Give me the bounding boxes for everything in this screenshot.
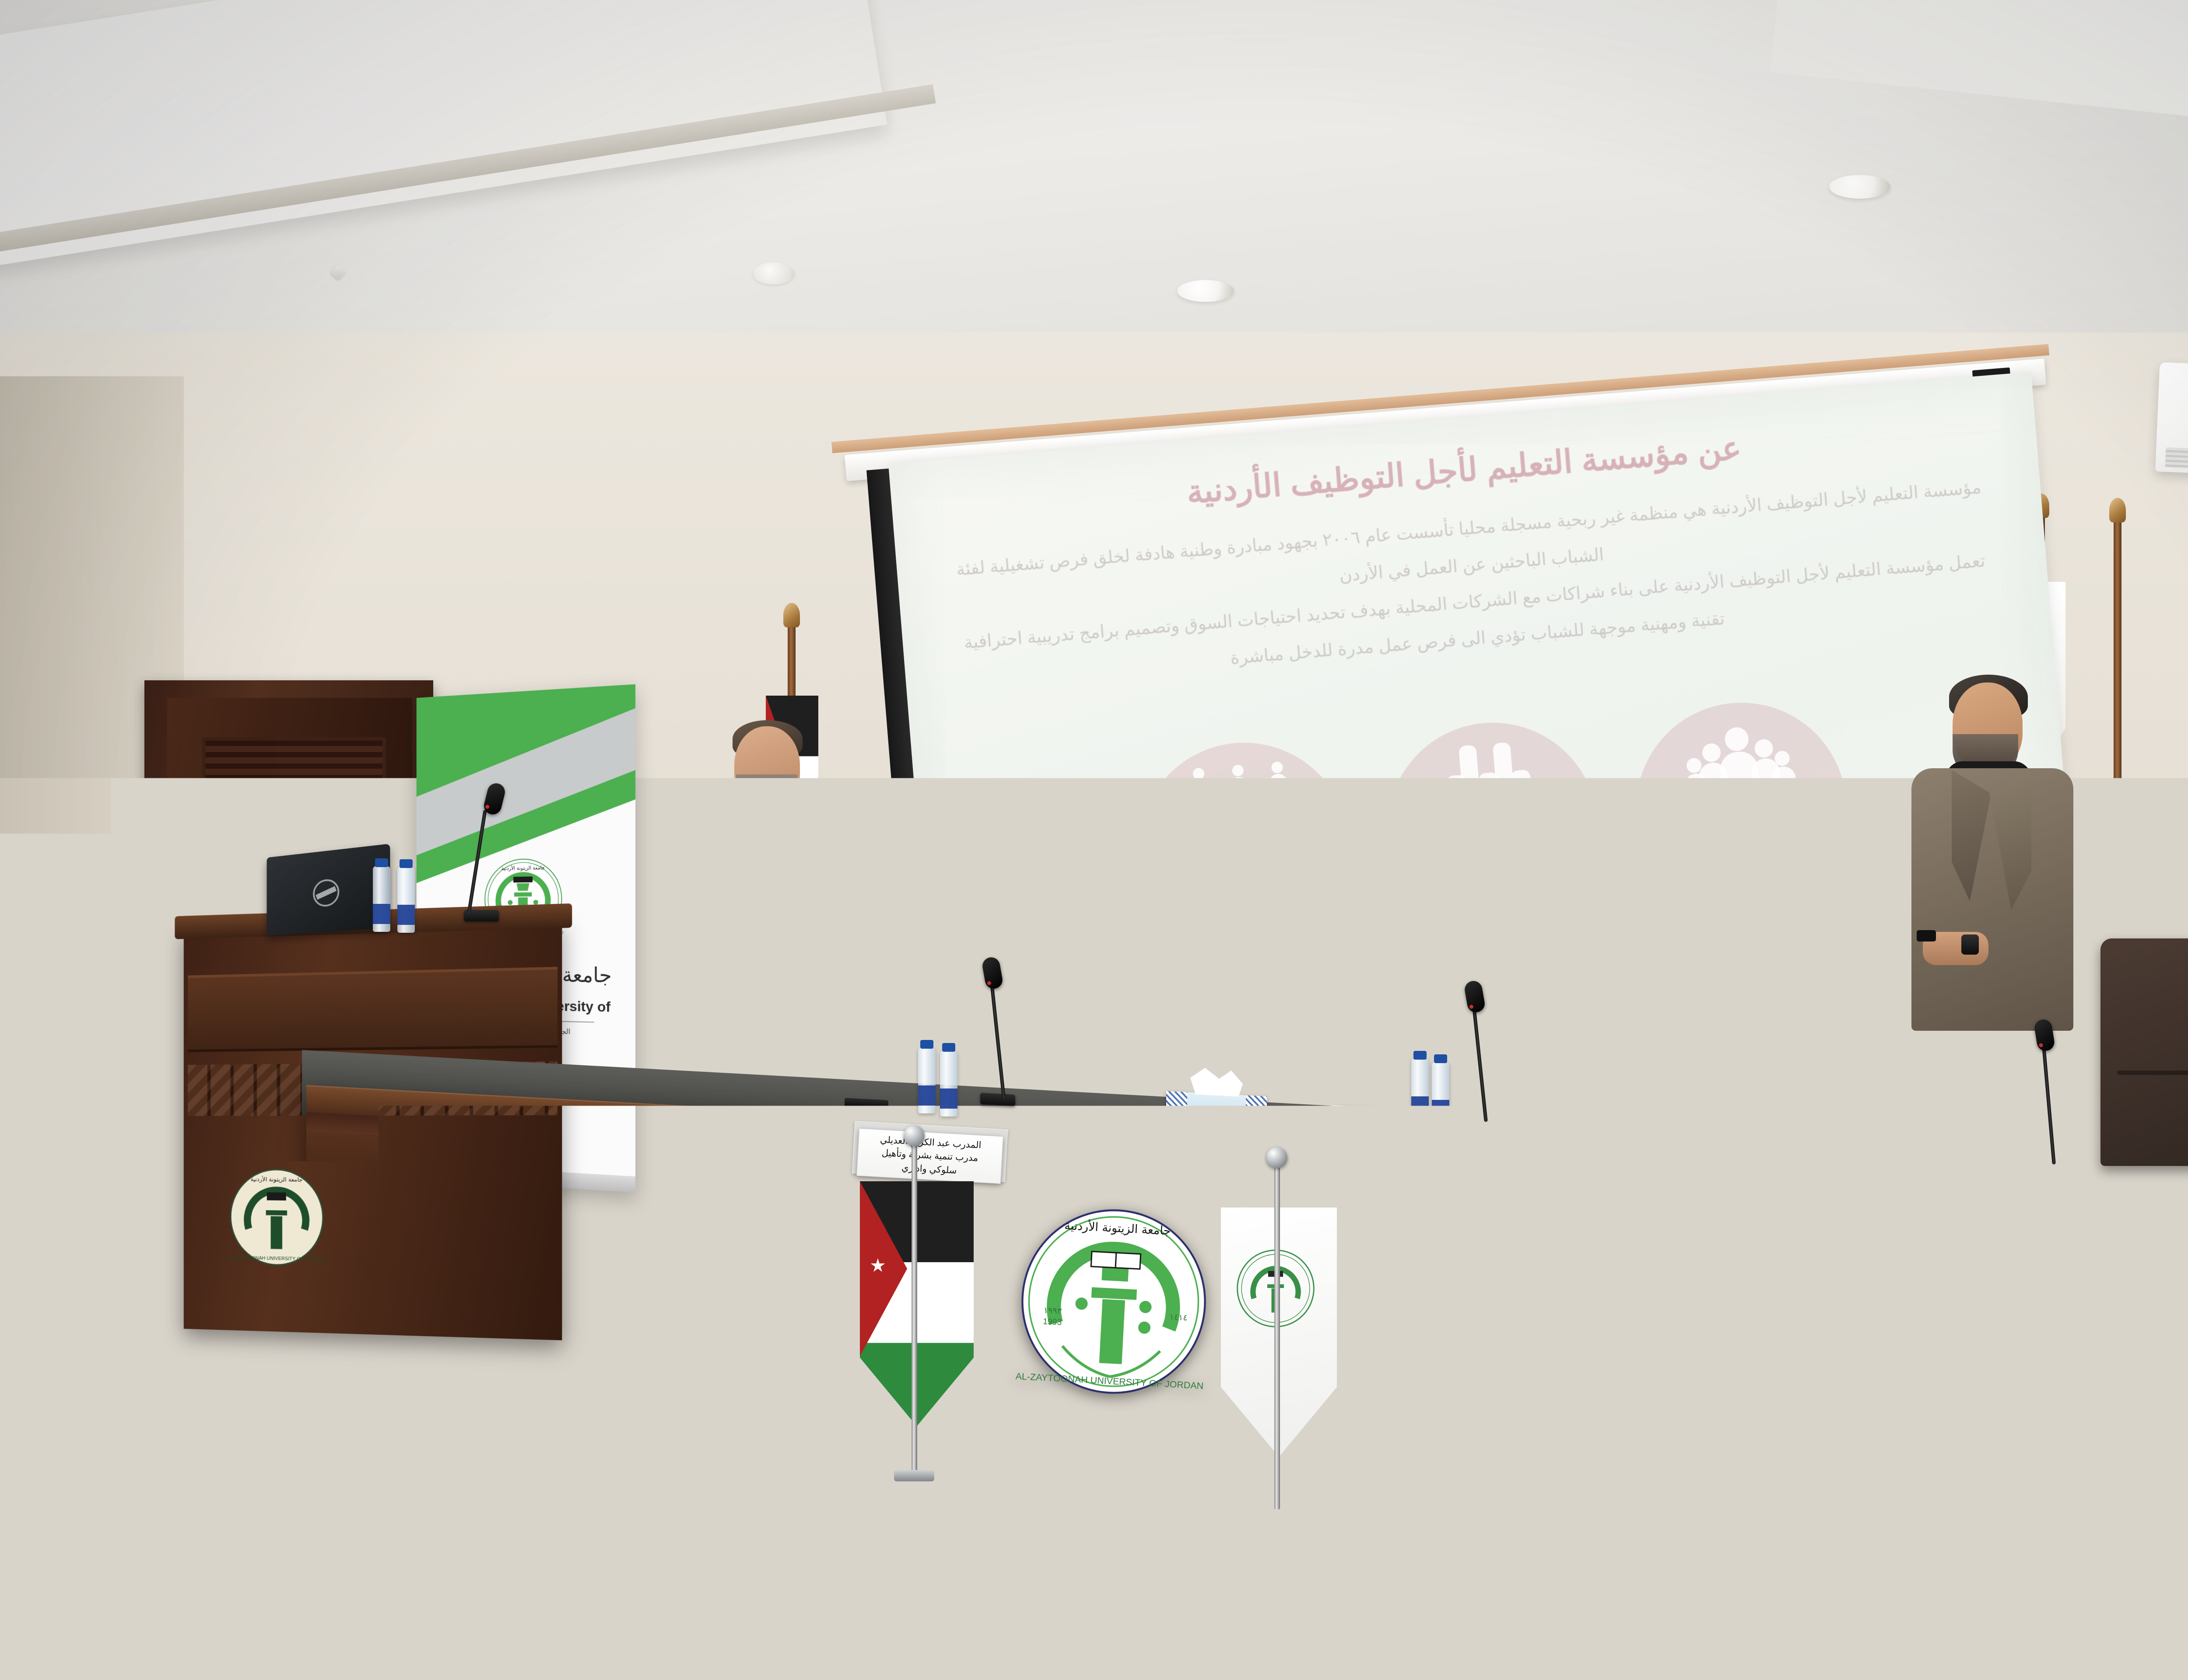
efe-wordmark: efe [995,968,1049,1008]
seminar-hall-photo: PETRA عن مؤسسة التعليم لأجل التوظيف الأر… [0,0,2188,1680]
svg-text:1993: 1993 [1043,1317,1062,1327]
presenter-left: M. Irshaid [700,726,840,1059]
water-bottle[interactable] [1411,1059,1429,1124]
water-bottle[interactable] [918,1048,936,1113]
slide-stat-card: قمنا بتدريب اكثر من ٢٧,٠٠٠ شاب وشابة [1628,695,1855,921]
podium-front-panel [188,967,558,1052]
door-handle[interactable] [157,1026,172,1100]
efe-country-label: Jordan [1006,1009,1029,1019]
vest-name-embroidery: M. Irshaid [768,876,813,886]
water-bottle[interactable] [397,867,415,933]
svg-text:جامعة الزيتونة الأردنية: جامعة الزيتونة الأردنية [250,1176,302,1183]
wristwatch [1961,934,1979,955]
slide-stat-caption: ما يقارب ٩٥٪ من خريجي برامجنا تم ربطهم ب… [1173,853,1320,905]
water-bottle[interactable] [1432,1062,1449,1128]
vest-logo-icon [735,866,760,876]
nameplate-left: المدرب عبد الكريم العديلي مدرب تنمية بشر… [856,1128,1003,1184]
black-vest: M. Irshaid [726,805,813,993]
presenter-right [1904,682,2087,1067]
tissue-box[interactable] [1166,1091,1267,1136]
water-bottle[interactable] [940,1051,957,1116]
graduates-icon [1431,740,1547,836]
table-microphone-base [1462,1117,1497,1130]
group-of-people-icon [1680,720,1796,815]
desk-university-seal: جامعة الزيتونة الأردنية AL-ZAYTOONAH UNI… [1015,1203,1213,1400]
door-louver-vent [202,737,386,838]
vest-pocket [733,910,806,917]
dell-logo-icon [313,878,339,907]
slide-stat-caption: قمنا بتدريب اكثر من ٢٧,٠٠٠ شاب وشابة [1670,813,1817,865]
presentation-clicker[interactable] [1917,930,1936,941]
flag-pole-finial [2109,498,2126,522]
org-chart-icon [1183,759,1299,855]
slide-stat-caption: اكثر من ٩٥٪ من المستفيدين هم نساء [1422,833,1569,885]
slide-stat-card: اكثر من ٩٥٪ من المستفيدين هم نساء [1380,714,1606,941]
conference-chair[interactable] [2100,938,2188,1166]
laptop[interactable] [267,843,390,935]
water-bottle[interactable] [373,866,390,932]
flag-staff-knob [904,1125,925,1146]
air-conditioner: PETRA [2155,362,2188,487]
flag-staff-knob [1266,1147,1287,1168]
smoke-detector-icon [753,262,795,284]
ceiling-downlight [1177,280,1234,302]
svg-text:جامعة الزيتونة الأردنية: جامعة الزيتونة الأردنية [501,864,545,871]
flag-pole-finial [783,603,800,627]
flag-pole [2114,521,2121,827]
svg-text:١٤١٤: ١٤١٤ [1169,1312,1188,1323]
slide-stat-card: ما يقارب ٩٥٪ من خريجي برامجنا تم ربطهم ب… [1131,735,1357,961]
table-microphone-base [980,1093,1015,1106]
table-microphone-base [2030,1158,2065,1172]
ceiling-downlight [1829,175,1890,199]
efe-logo: efe مؤسسة التعليم لأجل التوظيف education… [995,961,1142,1008]
svg-text:١٩٩٣: ١٩٩٣ [1043,1305,1062,1316]
wristwatch [753,969,772,984]
